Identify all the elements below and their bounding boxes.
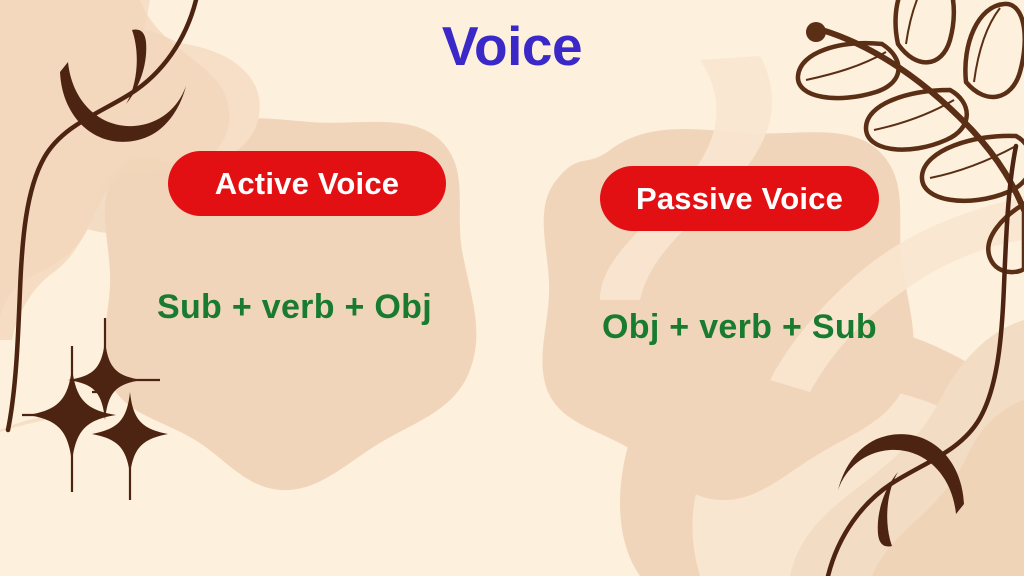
badge-active-voice[interactable]: Active Voice — [168, 151, 446, 216]
badge-passive-voice[interactable]: Passive Voice — [600, 166, 879, 231]
slide-canvas: Voice Active Voice Sub + verb + Obj Pass… — [0, 0, 1024, 576]
formula-passive-voice: Obj + verb + Sub — [602, 308, 877, 347]
content-layer: Voice Active Voice Sub + verb + Obj Pass… — [0, 0, 1024, 576]
page-title: Voice — [0, 16, 1024, 77]
formula-active-voice: Sub + verb + Obj — [157, 288, 432, 327]
